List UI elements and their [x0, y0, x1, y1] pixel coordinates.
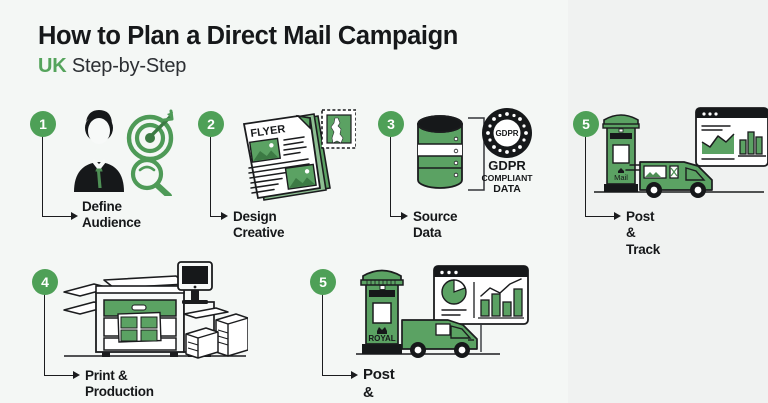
step-2-arrowhead [221, 212, 228, 220]
stamp-icon [322, 110, 356, 148]
step-4-connector [44, 288, 75, 376]
flyer-icon: FLYER [244, 114, 330, 200]
step-2-connector [210, 130, 223, 217]
magnifier-icon [133, 160, 169, 196]
gdpr-seal-text: GDPR [495, 129, 518, 138]
step-5-badge: 5 [310, 269, 336, 295]
step-3-arrowhead [401, 212, 408, 220]
gdpr-caption-line1: GDPR [488, 158, 526, 173]
gdpr-caption-line2: COMPLIANT [481, 173, 533, 183]
person-icon [74, 110, 124, 192]
step-1-artwork [68, 108, 176, 196]
gdpr-caption-line3: DATA [493, 183, 521, 195]
subtitle-rest: Step-by-Step [67, 55, 187, 77]
van-icon [402, 320, 477, 358]
step-3-artwork: GDPR GDPR COMPLIANT DATA [408, 106, 538, 198]
step-3-label: Source Data [413, 209, 457, 242]
step-2-artwork: FLYER [230, 104, 356, 204]
step-5-top-badge: 5 [573, 111, 599, 137]
dashboard-icon [696, 108, 768, 166]
step-2-badge: 2 [198, 111, 224, 137]
step-5-top-label: Post & Track [626, 209, 660, 258]
page-title: How to Plan a Direct Mail Campaign [38, 22, 558, 51]
step-1-connector [42, 130, 73, 217]
step-5-arrowhead [351, 371, 358, 379]
step-4-badge: 4 [32, 269, 58, 295]
dashboard-icon [434, 266, 528, 324]
step-4-artwork [58, 258, 248, 362]
step-5-top-connector [585, 130, 616, 217]
step-4-label: Print & Production [85, 368, 154, 401]
postbox-icon: ROYAL [361, 271, 403, 355]
gdpr-seal-icon: GDPR [482, 108, 532, 158]
postbox-label: Mail [614, 173, 628, 182]
step-2-label: Design Creative [233, 209, 284, 242]
target-icon [129, 111, 173, 159]
header: How to Plan a Direct Mail Campaign UK St… [38, 22, 558, 78]
step-1-label: Define Audience [82, 199, 141, 232]
step-5-connector [322, 288, 353, 376]
step-1-arrowhead [71, 212, 78, 220]
step-4-arrowhead [73, 371, 80, 379]
step-5-artwork: ROYAL [350, 262, 550, 362]
subtitle-uk-highlight: UK [38, 55, 67, 77]
postbox-label: ROYAL [368, 334, 395, 343]
page-subtitle: UK Step-by-Step [38, 55, 558, 78]
step-1-badge: 1 [30, 111, 56, 137]
database-icon [418, 116, 462, 188]
step-3-connector [390, 130, 403, 217]
step-3-badge: 3 [378, 111, 404, 137]
step-5-label: Post & Track [363, 366, 401, 403]
step-5-top-arrowhead [614, 212, 621, 220]
infographic-canvas: How to Plan a Direct Mail Campaign UK St… [0, 0, 768, 403]
